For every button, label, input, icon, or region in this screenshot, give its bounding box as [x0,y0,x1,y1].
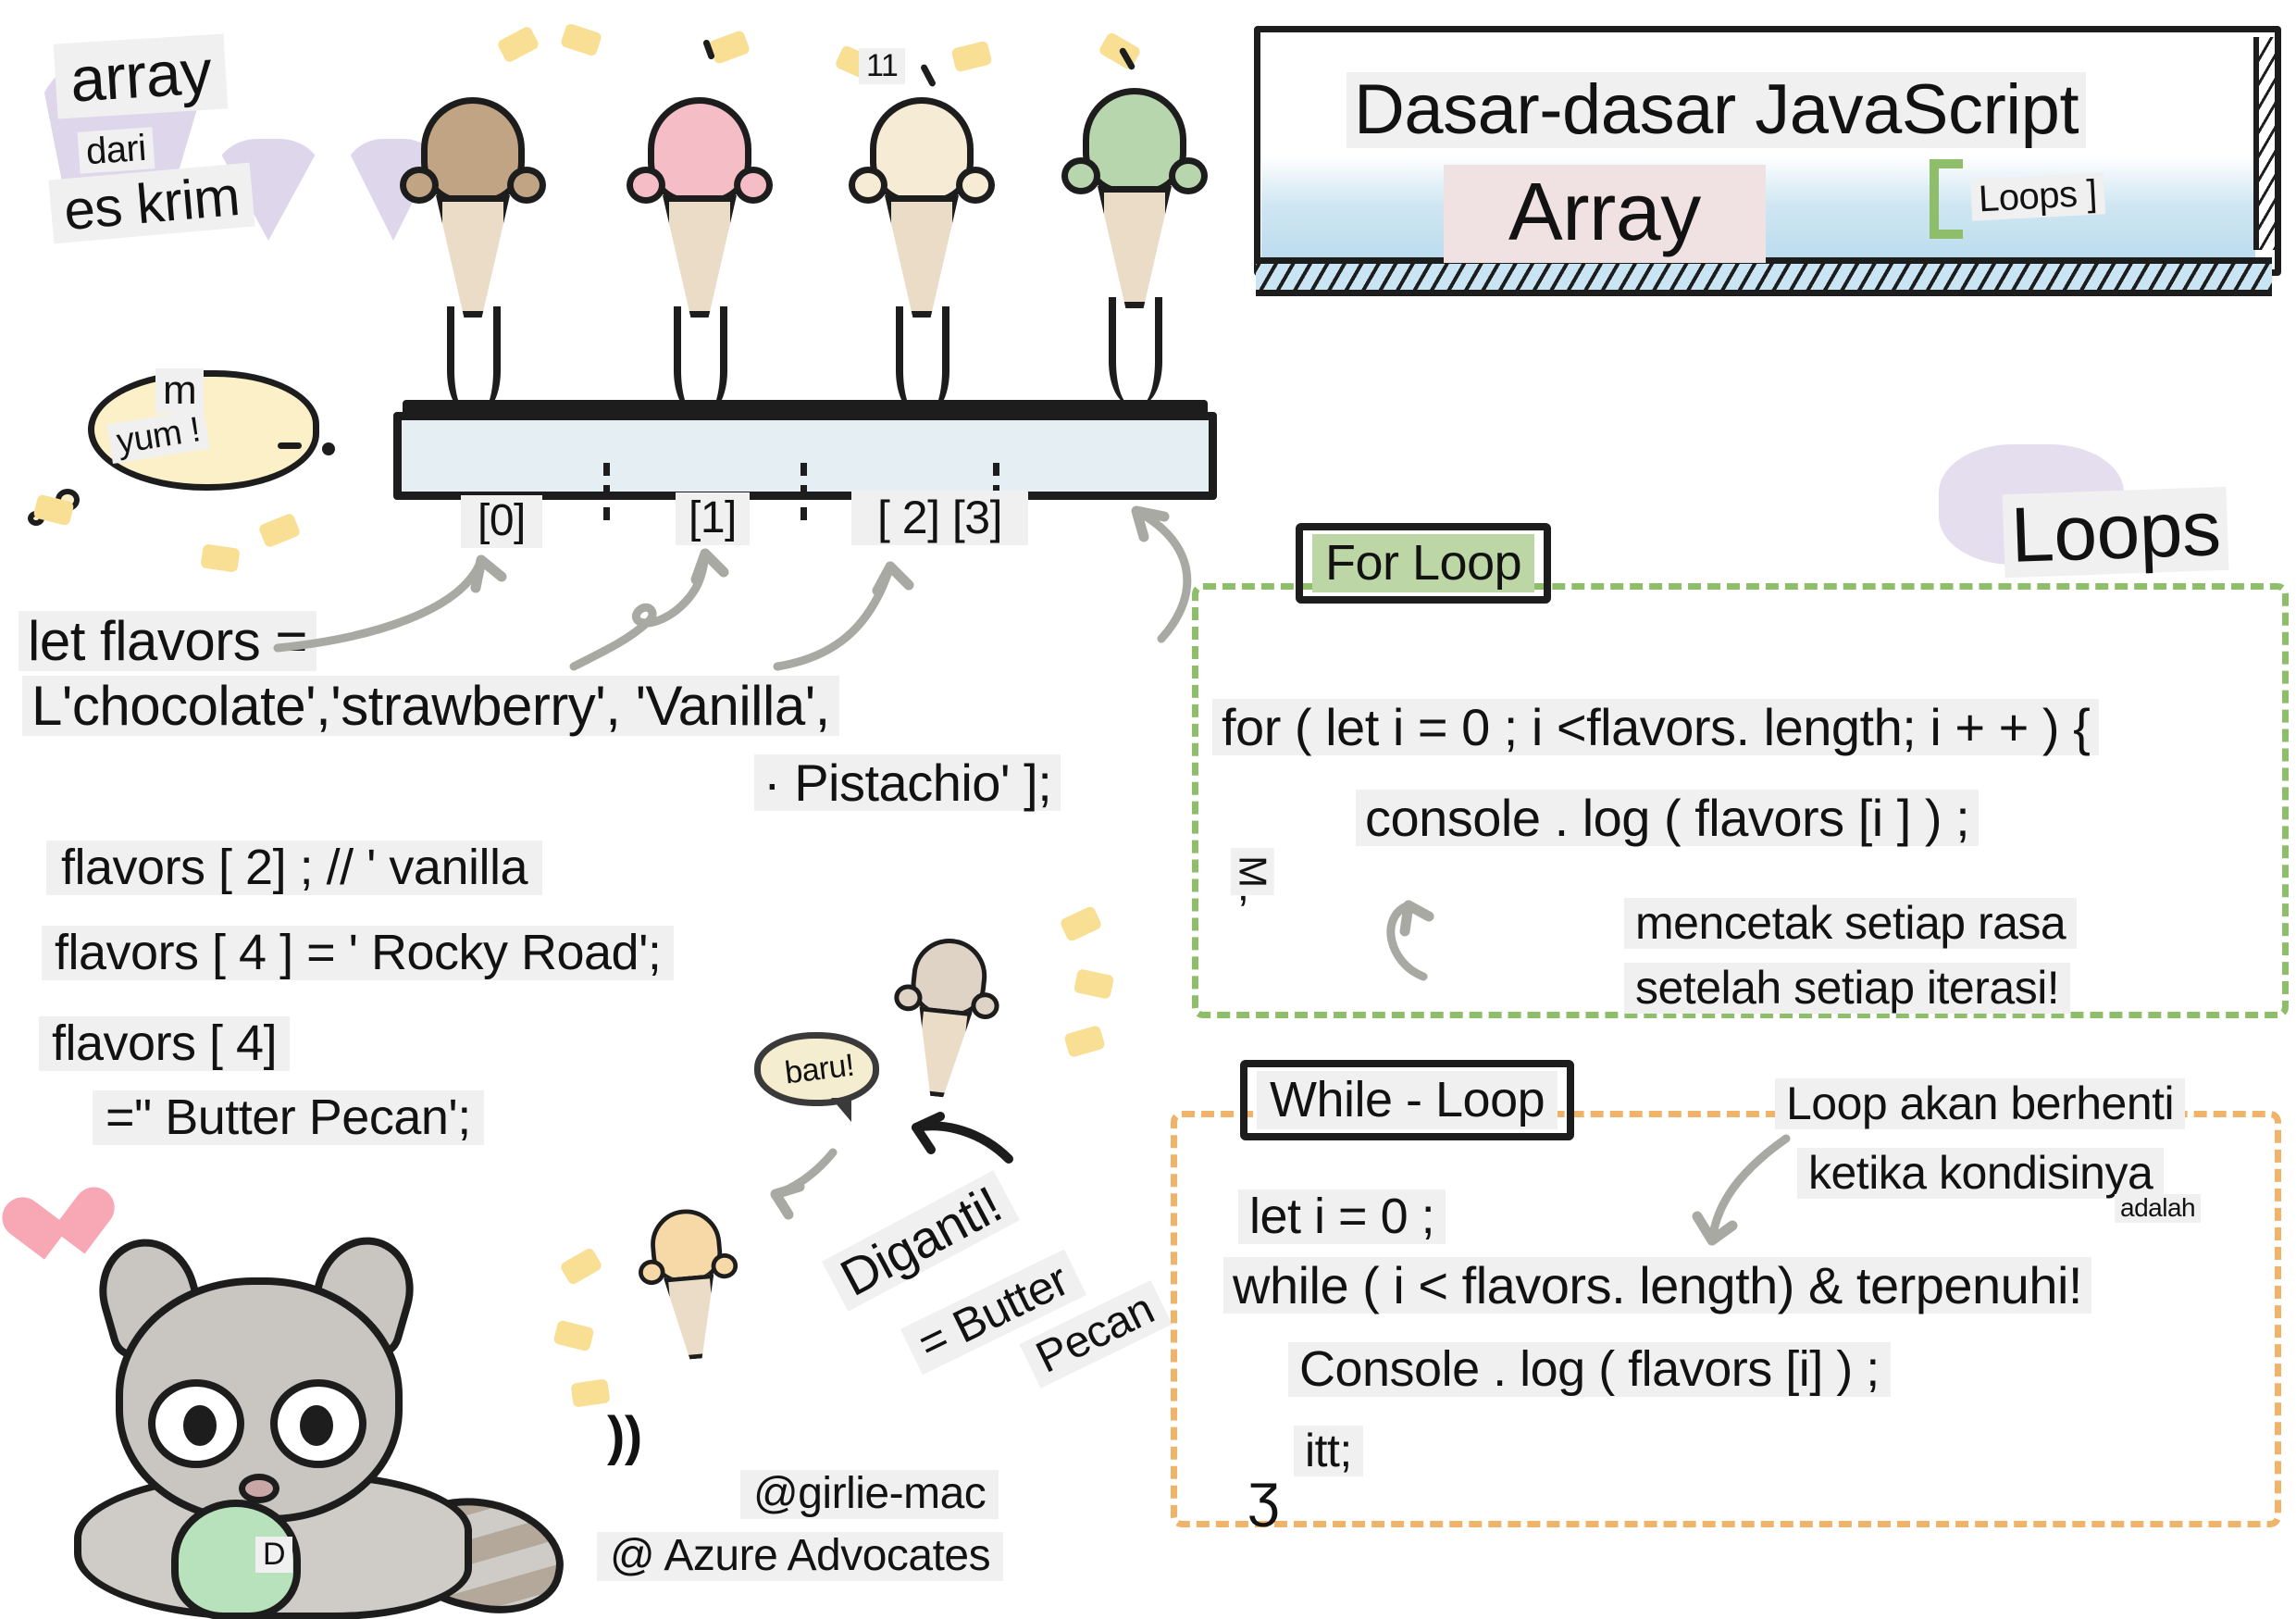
index-label-2-3: [ 2] [3] [851,491,1028,545]
cone-legs [447,306,501,414]
title-loops-bracket: Loops ] [1970,172,2105,220]
scoop-lobe [638,1259,666,1287]
cone-legs [1109,297,1162,405]
scoop-lobe [507,167,546,204]
while-loop-note-line-3: adalah [2115,1194,2201,1223]
sprinkle-icon [1059,905,1102,942]
stray-number-label: 11 [859,48,905,84]
cone-body [436,195,510,318]
scoop-icon [870,97,974,205]
sprinkle-icon [560,22,602,56]
page-title: Dasar-dasar JavaScript [1347,72,2086,148]
code-line-flavors-4: flavors [ 4] [39,1016,290,1071]
sprinkle-dash [322,442,335,455]
sprinkle-icon [708,30,751,65]
sprinkle-icon [1063,1025,1106,1058]
speech-bubble-tail [831,1098,851,1122]
label-paren-marks: )) [600,1407,650,1465]
credit-handle[interactable]: @girlie-mac [740,1470,999,1519]
sprinkle-icon [552,1320,594,1352]
arrow-to-index-2 [777,567,890,666]
scoop-icon [648,1206,725,1285]
open-bracket-icon [1930,159,1963,239]
cone-legs [674,306,727,414]
cone-body [885,195,959,318]
scoop-lobe [956,167,995,204]
label-raccoon-mark: D [255,1537,292,1573]
cone-body [664,1274,721,1361]
while-loop-code-line-2: while ( i < flavors. length) & terpenuhi… [1223,1257,2091,1314]
board-side-hatching [2253,37,2281,250]
for-loop-code-line-2: console . log ( flavors [i ] ) ; [1356,790,1979,846]
index-tick [603,463,610,520]
scoop-lobe [400,167,439,204]
board-ledge [1256,257,2272,296]
for-loop-code-line-1: for ( let i = 0 ; i <flavors. length; i … [1212,699,2099,755]
cone-body [1098,186,1172,308]
for-loop-note-line-2: setelah setiap iterasi! [1624,963,2070,1014]
code-line-access-2: flavors [ 2] ; // ' vanilla [46,841,542,895]
sprinkle-dash [278,442,302,449]
arrow-diganti [776,1152,833,1194]
cone-body [911,1006,973,1100]
sprinkle-dash [920,63,937,87]
code-line-butter-pecan: =" Butter Pecan'; [93,1090,484,1145]
cone-legs [896,306,949,414]
section-heading-loops: Loops [2003,487,2229,578]
scoop-icon [1083,88,1186,195]
title-board [1254,26,2281,276]
title-topic: Array [1444,165,1766,263]
for-loop-brace-tail: ’ [1231,889,1255,938]
sketchnote-canvas: 11 array dari es krim m yum ! [0,0,2296,1619]
index-label-1: [1] [676,492,750,545]
sprinkle-icon [200,543,240,572]
scoop-lobe [849,167,887,204]
scoop-icon [421,97,525,205]
scoop-lobe [970,991,1000,1021]
raccoon-nose [239,1474,279,1503]
while-loop-code-line-1: let i = 0 ; [1238,1189,1446,1244]
while-loop-closing-brace: ʒ [1240,1463,1286,1526]
raccoon-pupil-left [183,1405,217,1446]
sprinkle-icon [570,1378,610,1407]
code-line-declare: let flavors = [19,611,316,671]
while-loop-label-box: While - Loop [1240,1060,1574,1140]
arrow-to-index-1 [574,554,705,666]
code-line-array-items: L'chocolate','strawberry', 'Vanilla', [22,676,839,736]
index-label-0: [0] [461,495,542,548]
while-loop-label: While - Loop [1257,1071,1558,1129]
scoop-lobe [734,167,773,204]
scoop-lobe [893,983,924,1013]
while-loop-code-line-4: itt; [1294,1426,1363,1476]
sprinkle-icon [559,1247,603,1287]
code-line-assign-rocky: flavors [ 4 ] = ' Rocky Road'; [42,926,674,980]
sprinkle-icon [496,25,540,64]
label-dari: dari [78,127,155,173]
label-array: array [54,33,229,118]
while-loop-note-line-1: Loop akan berhenti [1775,1078,2185,1129]
for-loop-label: For Loop [1312,534,1534,592]
arrow-to-index-3 [1136,511,1187,639]
while-loop-code-line-3: Console . log ( flavors [i] ) ; [1288,1342,1891,1397]
scoop-lobe [710,1252,738,1280]
label-cloud-m: m [155,368,204,414]
for-loop-note-line-1: mencetak setiap rasa [1624,898,2077,949]
sprinkle-icon [1074,968,1115,1000]
index-tick [800,463,807,520]
scoop-icon [648,97,751,205]
sprinkle-icon [258,512,302,548]
while-loop-note-line-2: ketika kondisinya [1797,1148,2164,1199]
credit-org[interactable]: @ Azure Advocates [597,1532,1003,1581]
arrow-baru-pointer [916,1126,1009,1159]
cone-body [663,195,737,318]
scoop-lobe [627,167,665,204]
code-line-pistachio: · Pistachio' ]; [754,754,1061,811]
board-frame [1254,26,2281,276]
for-loop-label-box: For Loop [1296,523,1551,604]
sprinkle-icon [950,41,992,73]
raccoon-pupil-right [300,1405,333,1446]
scoop-lobe [1061,157,1100,194]
scoop-lobe [1169,157,1208,194]
